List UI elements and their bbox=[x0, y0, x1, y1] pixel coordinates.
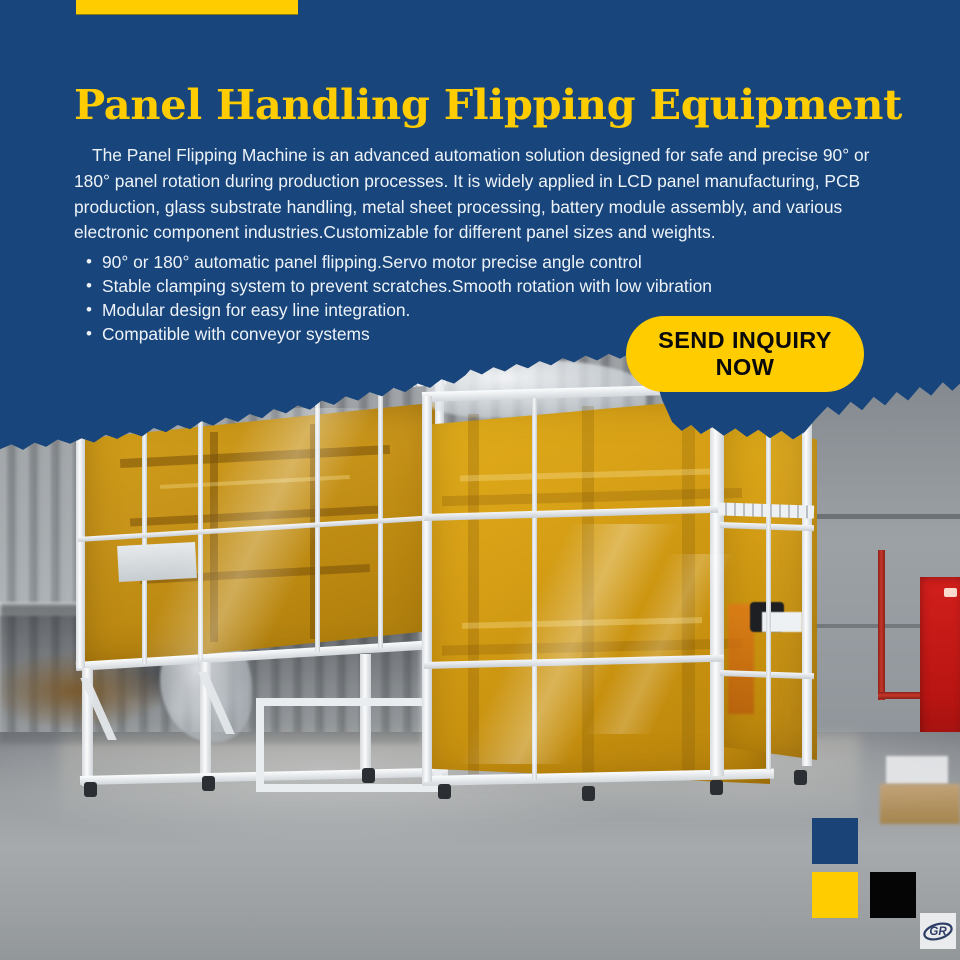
fire-cabinet-label bbox=[944, 588, 957, 597]
wooden-pallet-right bbox=[880, 784, 960, 824]
caster-wheel bbox=[794, 770, 807, 785]
caster-wheel bbox=[710, 780, 723, 795]
brace bbox=[80, 678, 181, 740]
photo-torn-edge-clip bbox=[0, 352, 960, 960]
mullion bbox=[766, 408, 771, 770]
caster-wheel bbox=[202, 776, 215, 791]
list-item-label: Stable clamping system to prevent scratc… bbox=[102, 276, 712, 296]
machine-left bbox=[60, 362, 460, 782]
svg-text:GR: GR bbox=[929, 926, 947, 938]
product-photo bbox=[0, 352, 960, 960]
white-box-right bbox=[886, 756, 948, 784]
swatch-blue bbox=[812, 818, 858, 864]
intro-paragraph: The Panel Flipping Machine is an advance… bbox=[74, 143, 884, 245]
list-item: • Stable clamping system to prevent scra… bbox=[102, 274, 892, 298]
red-pipe-vertical bbox=[878, 550, 885, 700]
frame-right-post bbox=[802, 396, 812, 766]
wall-beam-upper bbox=[800, 514, 960, 519]
gr-logo: GR bbox=[920, 913, 956, 949]
bullet-icon: • bbox=[86, 250, 92, 274]
frame-top bbox=[76, 376, 444, 407]
red-roof-eave bbox=[70, 352, 262, 392]
caster-wheel bbox=[582, 786, 595, 801]
frame-left-post bbox=[422, 396, 432, 782]
lower-cage bbox=[256, 698, 442, 792]
machine-right bbox=[432, 374, 810, 804]
gr-logo-mark: GR bbox=[921, 914, 955, 948]
bullet-icon: • bbox=[86, 322, 92, 346]
swatch-yellow bbox=[812, 872, 858, 918]
glass-glare bbox=[582, 554, 742, 734]
caster-wheel bbox=[84, 782, 97, 797]
caster-wheel bbox=[438, 784, 451, 799]
list-item-label: Compatible with conveyor systems bbox=[102, 324, 370, 344]
list-item-label: Modular design for easy line integration… bbox=[102, 300, 410, 320]
bullet-icon: • bbox=[86, 298, 92, 322]
bullet-icon: • bbox=[86, 274, 92, 298]
poster-root: Panel Handling Flipping Equipment The Pa… bbox=[0, 0, 960, 960]
frame-left-post bbox=[76, 400, 85, 668]
swatch-black bbox=[870, 872, 916, 918]
list-item: • 90° or 180° automatic panel flipping.S… bbox=[102, 250, 892, 274]
list-item-label: 90° or 180° automatic panel flipping.Ser… bbox=[102, 252, 642, 272]
top-accent-bar bbox=[76, 0, 298, 15]
glass-glare bbox=[90, 408, 430, 658]
send-inquiry-button[interactable]: SEND INQUIRY NOW bbox=[626, 316, 864, 392]
page-title: Panel Handling Flipping Equipment bbox=[74, 84, 914, 126]
